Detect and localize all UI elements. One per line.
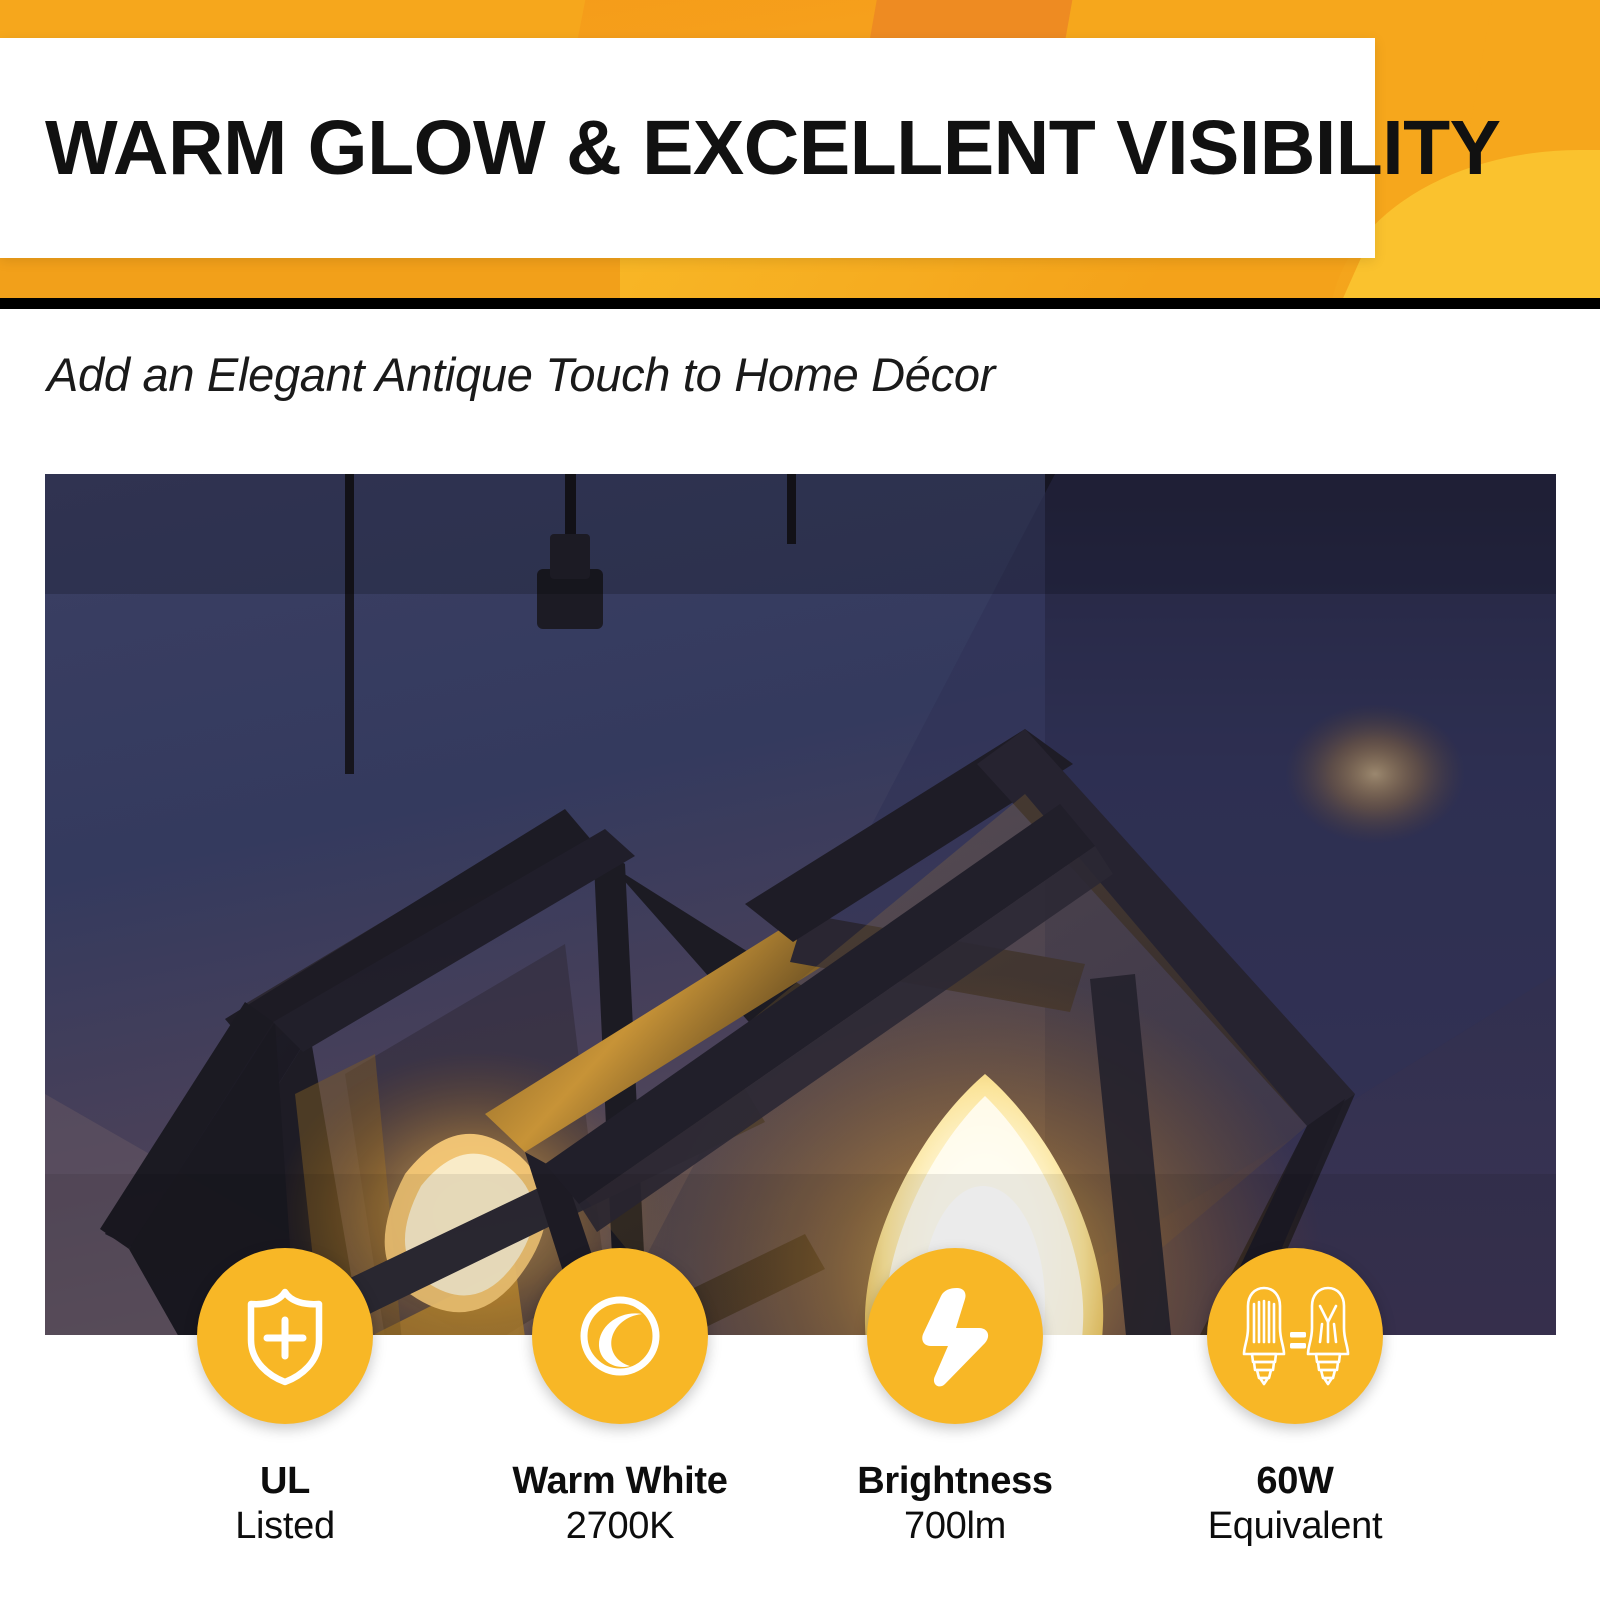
crescent-moon-icon — [572, 1288, 668, 1384]
product-photo-illustration — [45, 474, 1556, 1335]
badge-label: 60W Equivalent — [1208, 1459, 1382, 1549]
feature-badge-warm-white[interactable]: Warm White 2700K — [532, 1248, 708, 1549]
product-photo — [45, 474, 1556, 1335]
two-bulbs-equals-icon — [1232, 1280, 1358, 1392]
header-decor-shape-f — [0, 252, 620, 298]
badge-title: UL — [235, 1459, 335, 1504]
feature-badges: UL Listed Warm White 2700K — [0, 1248, 1600, 1600]
feature-badge-ul-listed[interactable]: UL Listed — [197, 1248, 373, 1549]
badge-title: Brightness — [857, 1459, 1052, 1504]
feature-badge-60w-equivalent[interactable]: 60W Equivalent — [1207, 1248, 1383, 1549]
header-divider — [0, 298, 1600, 309]
feature-badge-brightness[interactable]: Brightness 700lm — [867, 1248, 1043, 1549]
badge-subtitle: Equivalent — [1208, 1504, 1382, 1549]
badge-label: Warm White 2700K — [512, 1459, 727, 1549]
title-box: WARM GLOW & EXCELLENT VISIBILITY — [0, 38, 1375, 258]
badge-circle — [532, 1248, 708, 1424]
lightning-bolt-icon — [919, 1284, 991, 1388]
badge-circle — [1207, 1248, 1383, 1424]
badge-label: Brightness 700lm — [857, 1459, 1052, 1549]
badge-circle — [197, 1248, 373, 1424]
badge-subtitle: 700lm — [857, 1504, 1052, 1549]
badge-label: UL Listed — [235, 1459, 335, 1549]
badge-subtitle: 2700K — [512, 1504, 727, 1549]
badge-title: 60W — [1208, 1459, 1382, 1504]
subtitle: Add an Elegant Antique Touch to Home Déc… — [47, 347, 995, 402]
badge-circle — [867, 1248, 1043, 1424]
shield-plus-icon — [239, 1286, 331, 1386]
badge-subtitle: Listed — [235, 1504, 335, 1549]
badge-title: Warm White — [512, 1459, 727, 1504]
page-title: WARM GLOW & EXCELLENT VISIBILITY — [45, 110, 1501, 187]
